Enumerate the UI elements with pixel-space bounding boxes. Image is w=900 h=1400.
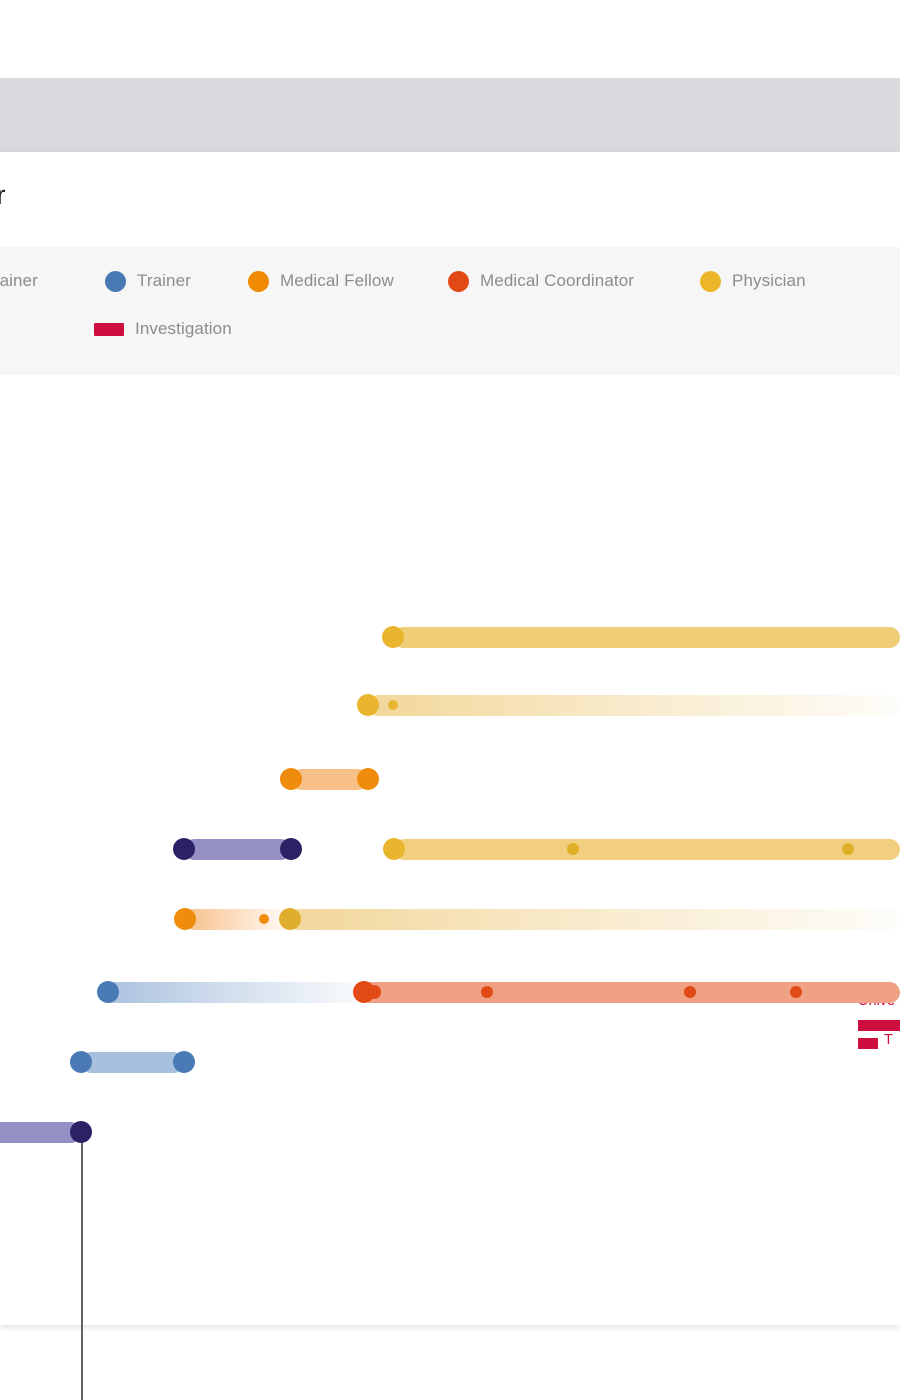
timeline-event-node[interactable] bbox=[173, 838, 195, 860]
timeline-bar-segment[interactable] bbox=[0, 1122, 81, 1143]
legend-row-secondary: Investigation bbox=[0, 314, 900, 352]
legend-item-medical-fellow[interactable]: Medical Fellow bbox=[248, 266, 394, 296]
timeline-plot: He graduates with a degree in Kinesiolog… bbox=[0, 375, 900, 1400]
timeline-event-node[interactable] bbox=[367, 985, 381, 999]
annotation-leader-line bbox=[81, 1132, 83, 1400]
timeline-bar-segment[interactable] bbox=[360, 982, 900, 1003]
callout-bar-primary bbox=[858, 1020, 900, 1031]
timeline-event-node[interactable] bbox=[357, 768, 379, 790]
timeline-event-node[interactable] bbox=[481, 986, 493, 998]
timeline-bar-segment[interactable] bbox=[81, 1052, 184, 1073]
legend-item-investigation[interactable]: Investigation bbox=[94, 314, 232, 344]
legend-item-label: & Trainer bbox=[0, 271, 38, 291]
timeline-event-node[interactable] bbox=[280, 768, 302, 790]
legend-item-label: Physician bbox=[732, 271, 806, 291]
timeline-bar-segment[interactable] bbox=[184, 839, 291, 860]
legend-item-label: Medical Coordinator bbox=[480, 271, 634, 291]
legend-item-label: Investigation bbox=[135, 319, 232, 339]
timeline-event-node[interactable] bbox=[684, 986, 696, 998]
timeline-bar-segment[interactable] bbox=[288, 909, 900, 930]
timeline-bar-segment[interactable] bbox=[394, 839, 900, 860]
timeline-event-node[interactable] bbox=[259, 914, 269, 924]
timeline-bar-segment[interactable] bbox=[393, 627, 900, 648]
timeline-event-node[interactable] bbox=[97, 981, 119, 1003]
timeline-bar-segment[interactable] bbox=[184, 909, 291, 930]
legend-item-physician[interactable]: Physician bbox=[700, 266, 806, 296]
timeline-event-node[interactable] bbox=[70, 1121, 92, 1143]
legend-item-label: Trainer bbox=[137, 271, 191, 291]
callout-secondary-label: T bbox=[884, 1032, 893, 1048]
timeline-event-node[interactable] bbox=[842, 843, 854, 855]
screenshot-root: Career & TrainerTrainerMedical FellowMed… bbox=[0, 0, 900, 1400]
timeline-event-node[interactable] bbox=[382, 626, 404, 648]
legend-swatch-dot-icon bbox=[700, 271, 721, 292]
timeline-event-node[interactable] bbox=[383, 838, 405, 860]
timeline-event-node[interactable] bbox=[567, 843, 579, 855]
timeline-bar-segment[interactable] bbox=[99, 982, 366, 1003]
timeline-bar-segment[interactable] bbox=[368, 695, 900, 716]
callout-bar-secondary bbox=[858, 1038, 878, 1049]
legend-swatch-dot-icon bbox=[448, 271, 469, 292]
top-grey-band bbox=[0, 78, 900, 152]
timeline-event-node[interactable] bbox=[357, 694, 379, 716]
timeline-event-node[interactable] bbox=[790, 986, 802, 998]
chart-card: Career & TrainerTrainerMedical FellowMed… bbox=[0, 152, 900, 1325]
timeline-event-node[interactable] bbox=[173, 1051, 195, 1073]
timeline-event-node[interactable] bbox=[388, 700, 398, 710]
legend: & TrainerTrainerMedical FellowMedical Co… bbox=[0, 247, 900, 375]
legend-row-primary: & TrainerTrainerMedical FellowMedical Co… bbox=[0, 266, 900, 304]
legend-item-trainer[interactable]: & Trainer bbox=[0, 266, 38, 296]
timeline-event-node[interactable] bbox=[279, 908, 301, 930]
page-title: Career bbox=[0, 180, 6, 211]
legend-swatch-rect-icon bbox=[94, 323, 124, 336]
timeline-event-node[interactable] bbox=[174, 908, 196, 930]
legend-item-label: Medical Fellow bbox=[280, 271, 394, 291]
legend-item-medical-coordinator[interactable]: Medical Coordinator bbox=[448, 266, 634, 296]
timeline-event-node[interactable] bbox=[280, 838, 302, 860]
legend-swatch-dot-icon bbox=[248, 271, 269, 292]
legend-item-trainer[interactable]: Trainer bbox=[105, 266, 191, 296]
legend-swatch-dot-icon bbox=[105, 271, 126, 292]
timeline-event-node[interactable] bbox=[70, 1051, 92, 1073]
